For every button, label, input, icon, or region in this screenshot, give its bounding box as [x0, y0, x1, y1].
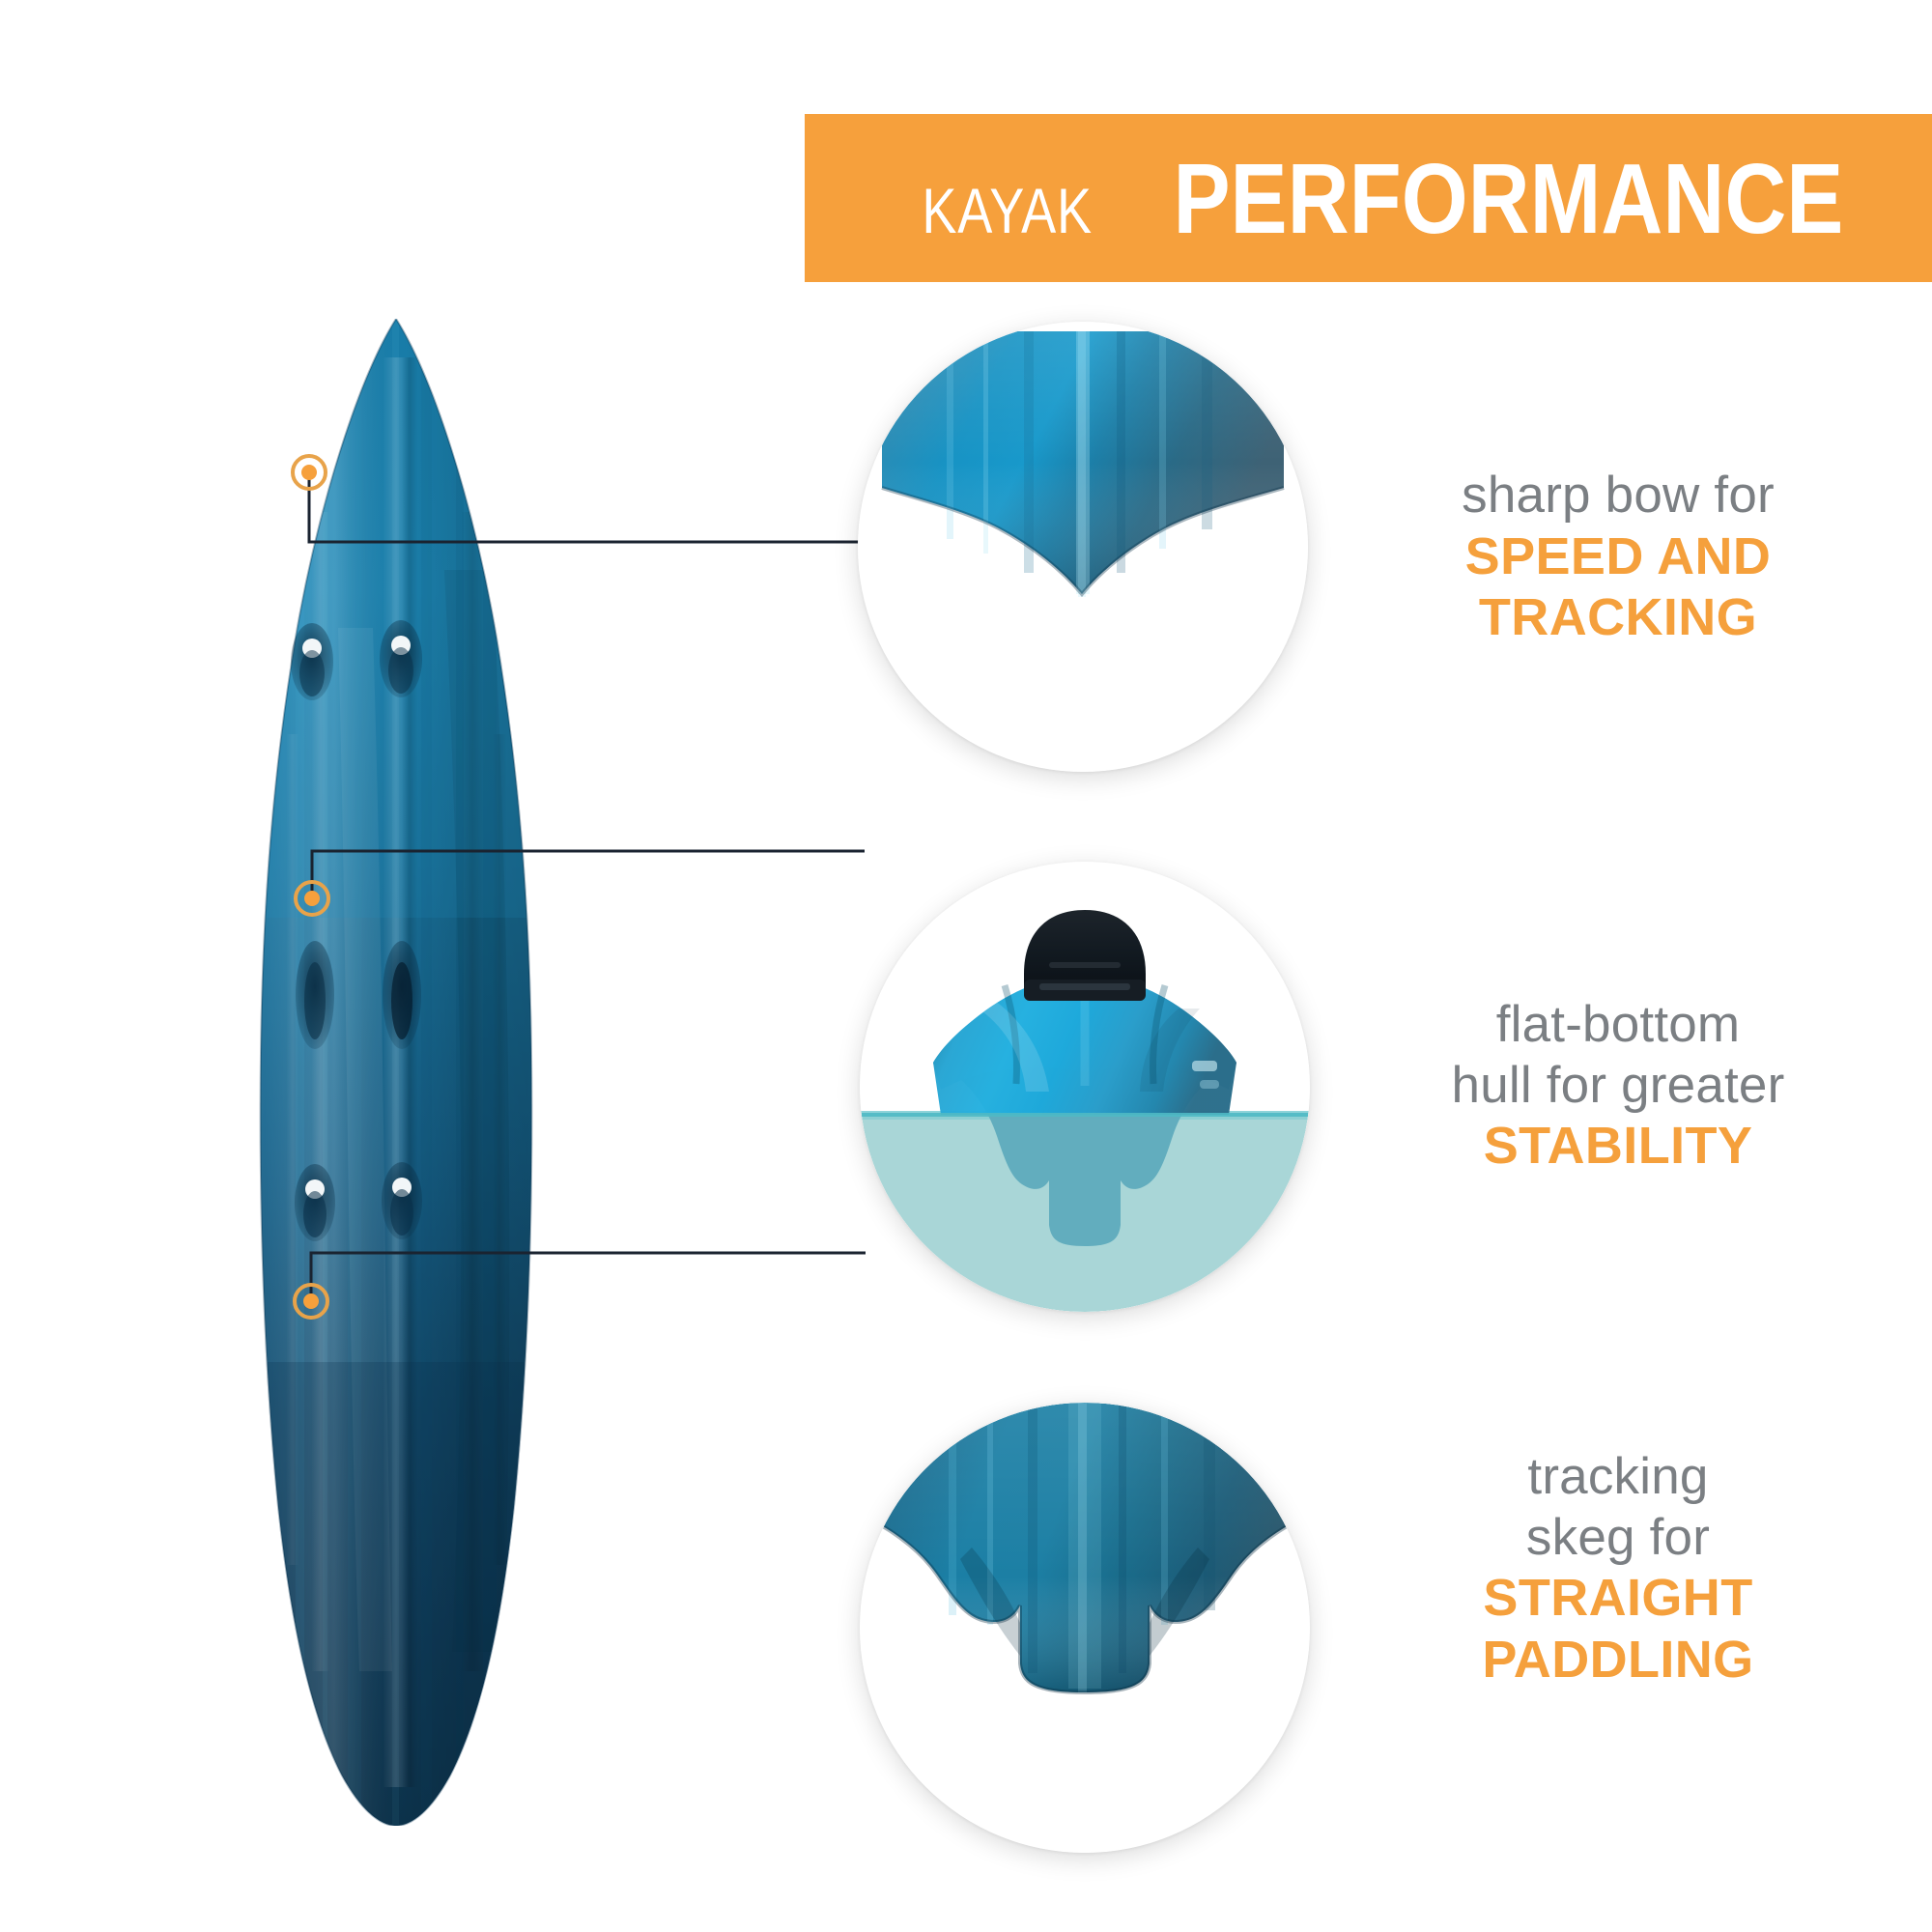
callout-2-emph-line-1: STABILITY	[1391, 1116, 1845, 1178]
title-performance-word: PERFORMANCE	[1174, 149, 1844, 248]
detail-circle-hull-inner	[860, 862, 1310, 1312]
callout-3-emph-line-2: PADDLING	[1391, 1630, 1845, 1691]
kayak-hull-svg	[203, 319, 589, 1826]
detail-circle-bow-inner	[858, 322, 1308, 772]
scupper-recess	[291, 623, 333, 700]
callout-2-lead-line-2: hull for greater	[1391, 1056, 1845, 1117]
title-kayak-word: KAYAK	[922, 179, 1093, 242]
callout-text-tracking-skeg: tracking skeg for STRAIGHT PADDLING	[1391, 1447, 1845, 1691]
callout-1-lead-line-1: sharp bow for	[1391, 466, 1845, 526]
callout-1-emph-line-2: TRACKING	[1391, 587, 1845, 649]
header-banner: KAYAK PERFORMANCE	[805, 114, 1932, 282]
infographic-canvas: KAYAK PERFORMANCE	[0, 0, 1932, 1932]
callout-2-lead-line-1: flat-bottom	[1391, 995, 1845, 1056]
flat-bottom-hull-detail-svg	[860, 862, 1310, 1312]
handle-recess	[383, 941, 421, 1049]
detail-circle-flat-bottom-hull	[860, 862, 1310, 1312]
detail-circle-skeg-inner	[860, 1403, 1310, 1853]
scupper-recess	[295, 1164, 335, 1241]
scupper-recess	[382, 1162, 422, 1239]
detail-circle-tracking-skeg	[860, 1403, 1310, 1853]
tracking-skeg-detail-svg	[860, 1403, 1310, 1853]
callout-1-emph-line-1: SPEED AND	[1391, 526, 1845, 588]
callout-3-lead-line-2: skeg for	[1391, 1508, 1845, 1569]
callout-text-flat-bottom-hull: flat-bottom hull for greater STABILITY	[1391, 995, 1845, 1178]
scupper-recess	[380, 620, 422, 697]
detail-circle-sharp-bow	[858, 322, 1308, 772]
page-title: KAYAK PERFORMANCE	[903, 149, 1898, 248]
handle-recess	[296, 941, 334, 1049]
callout-3-lead-line-1: tracking	[1391, 1447, 1845, 1508]
sharp-bow-detail-svg	[858, 322, 1308, 772]
kayak-hull-image	[203, 319, 589, 1826]
callout-3-emph-line-1: STRAIGHT	[1391, 1568, 1845, 1630]
callout-text-sharp-bow: sharp bow for SPEED AND TRACKING	[1391, 466, 1845, 649]
